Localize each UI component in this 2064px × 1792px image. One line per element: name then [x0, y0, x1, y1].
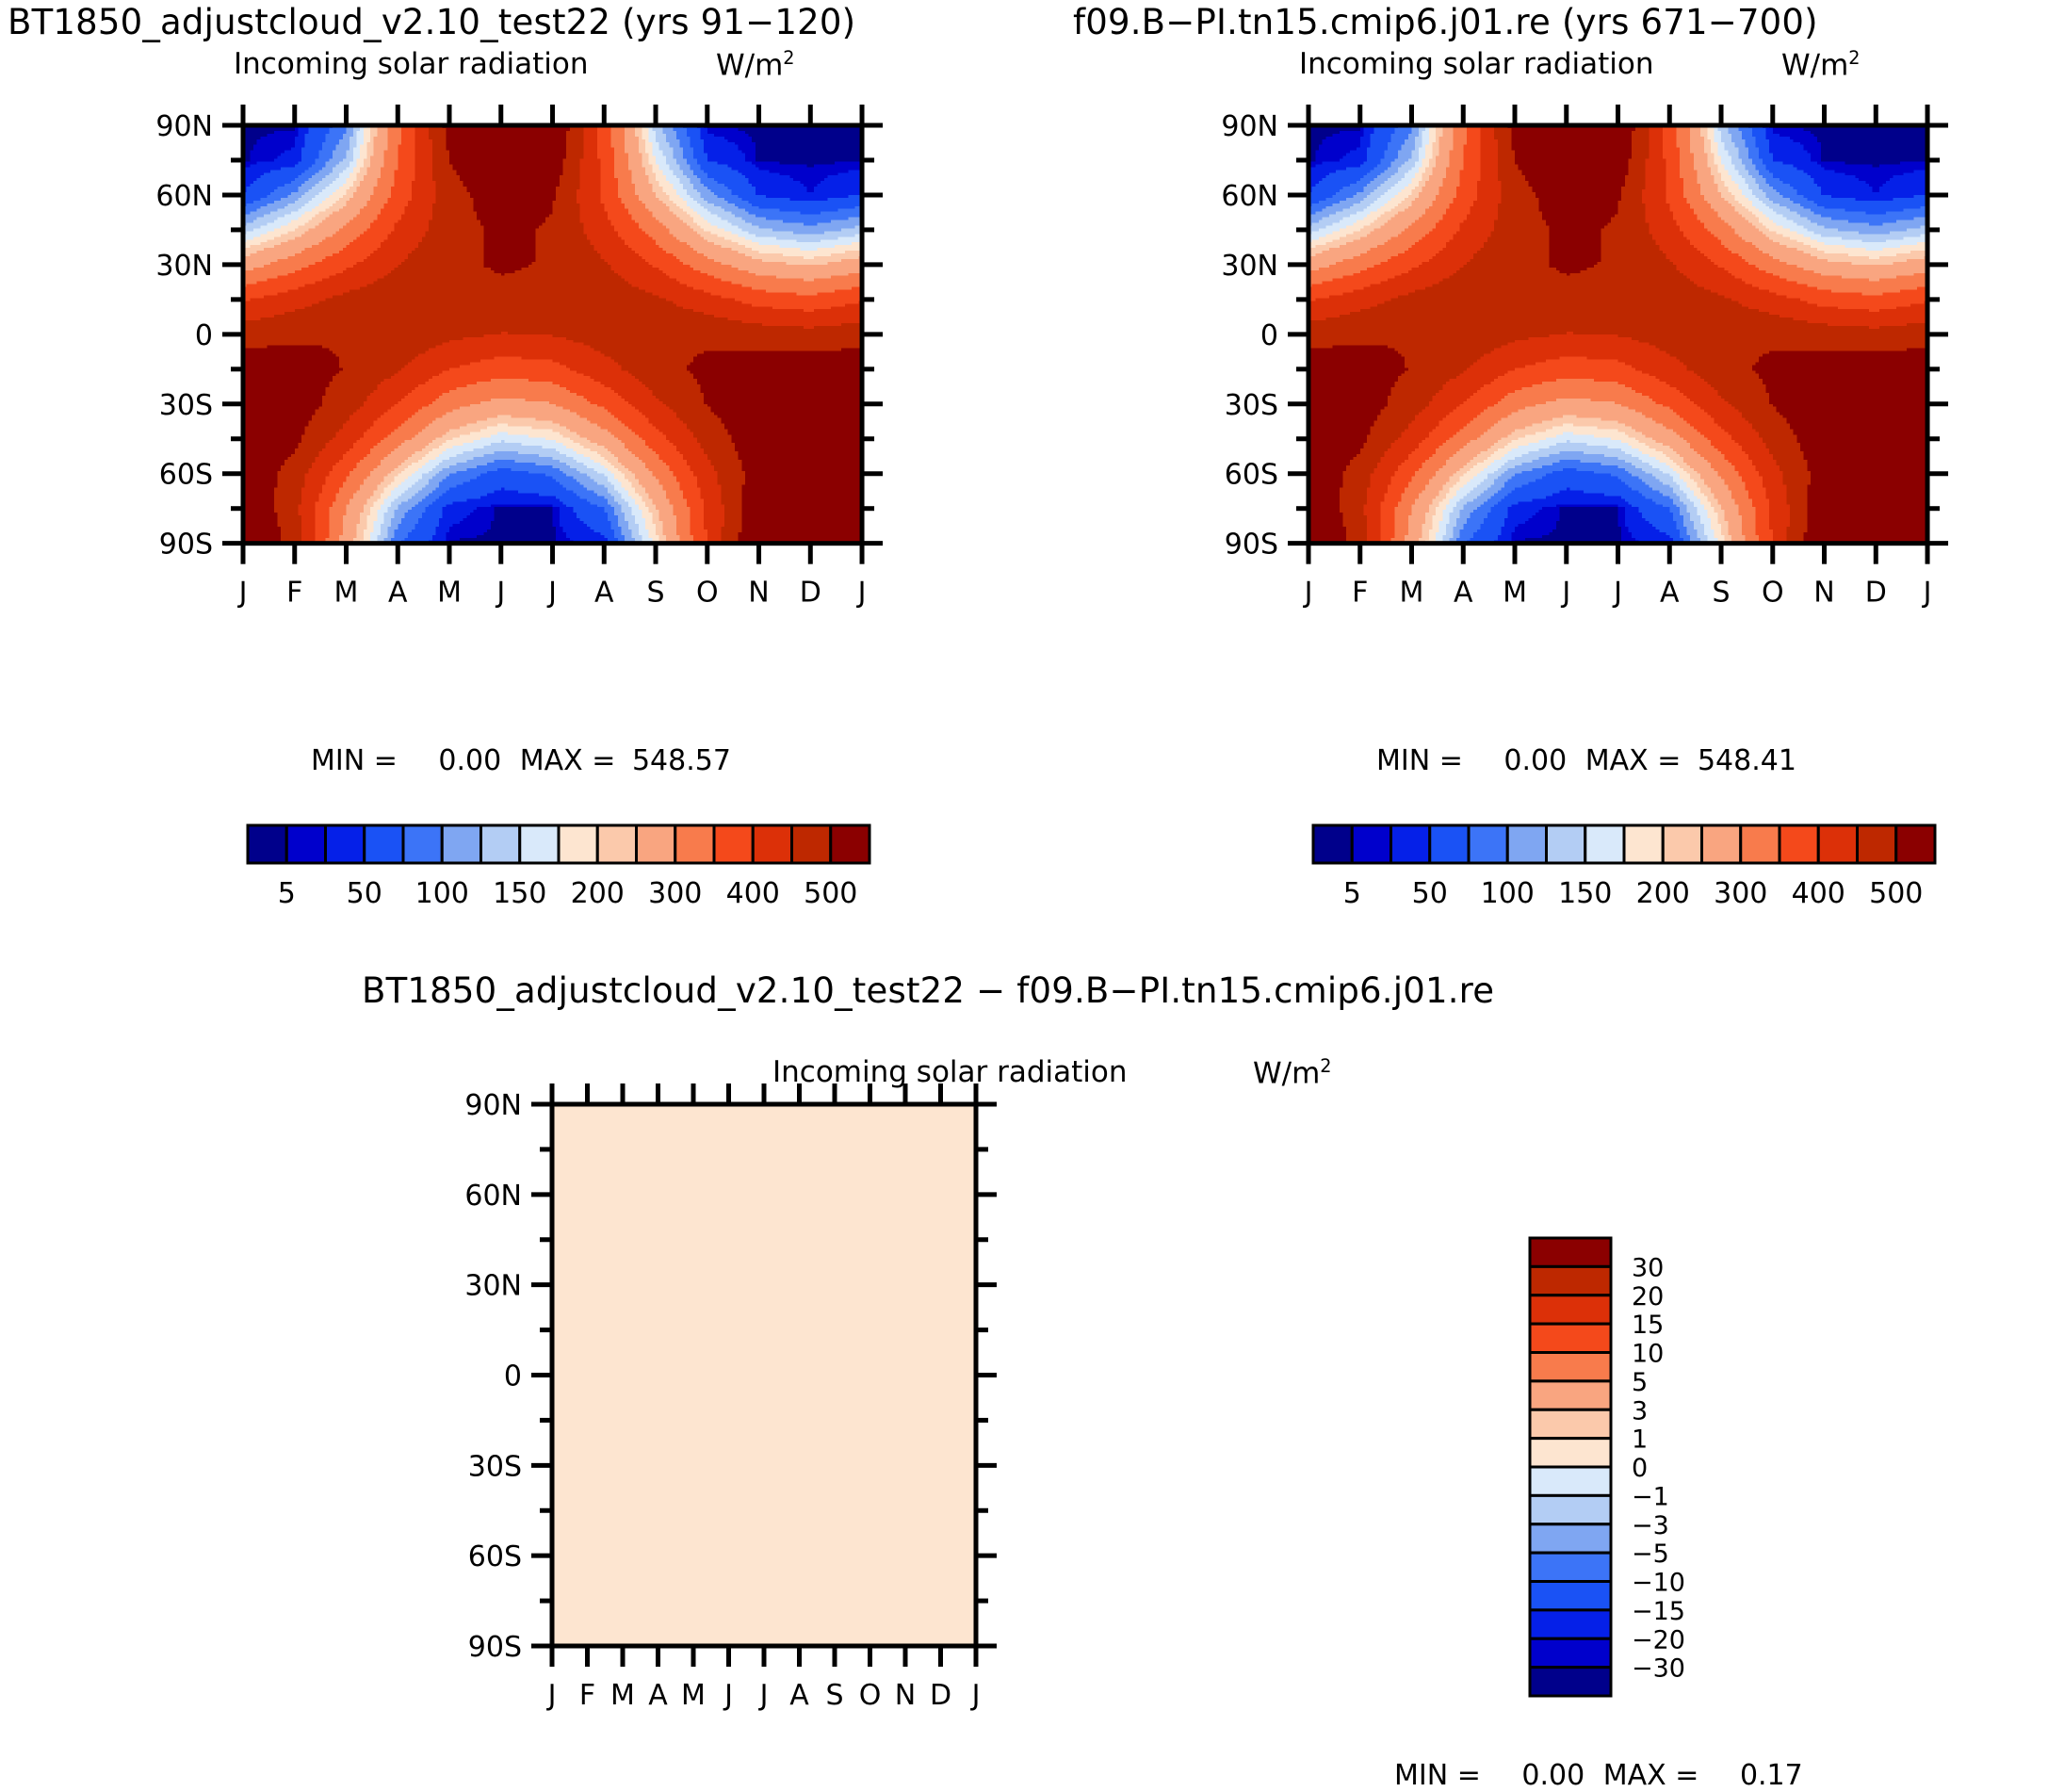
colorbar-cell[interactable] — [675, 825, 714, 863]
colorbar-cell[interactable] — [1530, 1439, 1611, 1467]
colorbar-cell[interactable] — [1858, 825, 1896, 863]
x-axis-tick-label: A — [388, 577, 408, 610]
x-axis-tick-label: O — [696, 577, 719, 610]
y-axis-tick-label: 30S — [1225, 389, 1278, 422]
colorbar-tick-label: 5 — [278, 877, 296, 910]
colorbar-cell[interactable] — [1663, 825, 1701, 863]
y-axis-tick-label: 30N — [464, 1270, 522, 1303]
y-axis-tick-label: 30S — [159, 389, 213, 422]
x-axis-tick-label: M — [334, 577, 359, 610]
colorbar-cell[interactable] — [1469, 825, 1507, 863]
units-exponent: 2 — [1320, 1055, 1331, 1077]
colorbar-cells[interactable] — [1313, 825, 1935, 863]
x-axis-tick-label: D — [800, 577, 821, 610]
colorbar-tick-label: 200 — [571, 877, 625, 910]
contour-field — [552, 1104, 976, 1646]
colorbar-cell[interactable] — [1530, 1381, 1611, 1409]
colorbar-tick-label: 5 — [1343, 877, 1361, 910]
y-axis-tick-label: 30N — [155, 250, 213, 283]
x-axis-tick-label: J — [1303, 577, 1313, 610]
y-axis-tick-label: 30S — [468, 1450, 522, 1483]
colorbar-diff-tick-label: −1 — [1632, 1482, 1669, 1511]
colorbar-cell[interactable] — [1530, 1610, 1611, 1638]
x-axis-tick-label: M — [1503, 577, 1527, 610]
x-axis-tick-label: S — [825, 1679, 843, 1712]
colorbar-cell[interactable] — [1896, 825, 1935, 863]
colorbar-cell[interactable] — [1530, 1582, 1611, 1610]
minmax-difference: MIN = 0.00 MAX = 0.17 — [1394, 1759, 1803, 1792]
x-axis-tick-label: A — [789, 1679, 809, 1712]
colorbar-cell[interactable] — [559, 825, 597, 863]
x-axis-tick-label: J — [970, 1679, 981, 1712]
colorbar-cell[interactable] — [1585, 825, 1624, 863]
y-axis-tick-label: 30N — [1221, 250, 1278, 283]
x-axis-tick-label: D — [1865, 577, 1887, 610]
colorbar-cell[interactable] — [1507, 825, 1546, 863]
panel-top-right: f09.B−PI.tn15.cmip6.j01.re (yrs 671−700)… — [1065, 0, 2064, 923]
units-exponent: 2 — [783, 47, 794, 69]
x-axis-tick-label: D — [930, 1679, 951, 1712]
colorbar-cell[interactable] — [403, 825, 442, 863]
contour-plot-right: 90N60N30N030S60S90SJFMAMJJASONDJ — [1065, 72, 2064, 731]
x-axis-tick-label: S — [647, 577, 665, 610]
x-axis-tick-label: J — [856, 577, 867, 610]
y-axis-tick-label: 60N — [1221, 180, 1278, 213]
colorbar-tick-label: 50 — [1412, 877, 1448, 910]
colorbar-cell[interactable] — [637, 825, 675, 863]
colorbar-tick-label: 100 — [415, 877, 469, 910]
colorbar-cell[interactable] — [248, 825, 286, 863]
colorbar-cell[interactable] — [1702, 825, 1741, 863]
panel-difference: BT1850_adjustcloud_v2.10_test22 − f09.B−… — [0, 961, 2064, 1738]
difference-plot: 90N60N30N030S60S90SJFMAMJJASONDJ — [414, 1080, 1545, 1739]
colorbar-cell[interactable] — [1530, 1266, 1611, 1295]
min-value: 0.00 — [1521, 1759, 1585, 1792]
colorbar-cell[interactable] — [442, 825, 480, 863]
y-axis-tick-label: 90S — [468, 1631, 522, 1664]
colorbar-cell[interactable] — [1780, 825, 1818, 863]
max-label: MAX = — [1585, 744, 1682, 777]
x-axis-tick-label: J — [1922, 577, 1932, 610]
contour-plot-left: 90N60N30N030S60S90SJFMAMJJASONDJ — [0, 72, 999, 731]
colorbar-cell[interactable] — [286, 825, 325, 863]
y-axis-tick-label: 60S — [468, 1540, 522, 1573]
colorbar-cell[interactable] — [1530, 1524, 1611, 1553]
colorbar-cell[interactable] — [1430, 825, 1469, 863]
colorbar-tick-label: 150 — [493, 877, 546, 910]
y-axis-tick-label: 90N — [464, 1089, 522, 1122]
colorbar-diff-tick-label: 5 — [1632, 1368, 1648, 1397]
colorbar-tick-label: 500 — [1869, 877, 1923, 910]
x-axis-tick-label: F — [1352, 577, 1368, 610]
colorbar-diff-tick-label: −10 — [1632, 1569, 1685, 1598]
colorbar-cell[interactable] — [1530, 1467, 1611, 1495]
colorbar-diff-tick-label: 10 — [1632, 1340, 1664, 1369]
colorbar-cell[interactable] — [1530, 1495, 1611, 1523]
units-exponent: 2 — [1848, 47, 1860, 69]
y-axis-tick-label: 60N — [464, 1180, 522, 1213]
x-axis-tick-label: O — [1762, 577, 1784, 610]
x-axis-tick-label: A — [594, 577, 614, 610]
colorbar-cell[interactable] — [1530, 1295, 1611, 1324]
colorbar-cell[interactable] — [365, 825, 403, 863]
min-value: 0.00 — [438, 744, 501, 777]
colorbar-cell[interactable] — [520, 825, 559, 863]
x-axis-tick-label: A — [648, 1679, 668, 1712]
colorbar-cell[interactable] — [1741, 825, 1780, 863]
colorbar-tick-label: 50 — [347, 877, 382, 910]
colorbar-cell[interactable] — [714, 825, 753, 863]
panel-title-left: BT1850_adjustcloud_v2.10_test22 (yrs 91−… — [8, 2, 855, 42]
colorbar-diff-tick-label: −3 — [1632, 1511, 1669, 1540]
colorbar-diff-tick-label: 0 — [1632, 1454, 1648, 1483]
y-axis-tick-label: 60N — [155, 180, 213, 213]
colorbar-cell[interactable] — [326, 825, 365, 863]
x-axis-tick-label: O — [859, 1679, 882, 1712]
colorbar-diff-tick-label: 20 — [1632, 1282, 1664, 1311]
x-axis-tick-label: J — [495, 577, 505, 610]
minmax-right: MIN = 0.00 MAX = 548.41 — [1376, 744, 1796, 777]
colorbar-left[interactable]: 550100150200300400500 — [231, 816, 890, 920]
colorbar-cell[interactable] — [1818, 825, 1857, 863]
colorbar-cell[interactable] — [1530, 1638, 1611, 1667]
colorbar-cell[interactable] — [753, 825, 791, 863]
x-axis-tick-label: N — [895, 1679, 916, 1712]
x-axis-tick-label: S — [1713, 577, 1731, 610]
x-axis-tick-label: J — [237, 577, 248, 610]
y-axis-tick-label: 90N — [1221, 110, 1278, 143]
x-axis-tick-label: N — [748, 577, 769, 610]
x-axis-tick-label: M — [681, 1679, 706, 1712]
x-axis-tick-label: M — [437, 577, 462, 610]
colorbar-diff-tick-label: 3 — [1632, 1396, 1648, 1425]
colorbar-right[interactable]: 550100150200300400500 — [1296, 816, 1956, 920]
colorbar-tick-label: 100 — [1481, 877, 1535, 910]
x-axis-tick-label: J — [1612, 577, 1622, 610]
colorbar-cell[interactable] — [1530, 1668, 1611, 1696]
colorbar-cell[interactable] — [1530, 1353, 1611, 1381]
colorbar-cell[interactable] — [792, 825, 831, 863]
colorbar-cell[interactable] — [1547, 825, 1585, 863]
max-value: 0.17 — [1740, 1759, 1803, 1792]
x-axis-tick-label: J — [723, 1679, 733, 1712]
panel-title-right: f09.B−PI.tn15.cmip6.j01.re (yrs 671−700) — [1073, 2, 1818, 42]
colorbar-cell[interactable] — [1391, 825, 1430, 863]
colorbar-tick-label: 300 — [1714, 877, 1767, 910]
colorbar-tick-label: 200 — [1636, 877, 1690, 910]
colorbar-tick-label: 400 — [1792, 877, 1845, 910]
max-value: 548.57 — [632, 744, 731, 777]
contour-field — [1308, 125, 1928, 544]
colorbar-cell[interactable] — [1352, 825, 1390, 863]
colorbar-diff-tick-label: −20 — [1632, 1625, 1685, 1654]
x-axis-tick-label: A — [1660, 577, 1680, 610]
y-axis-tick-label: 90S — [1225, 529, 1278, 562]
difference-title: BT1850_adjustcloud_v2.10_test22 − f09.B−… — [362, 970, 1494, 1011]
min-label: MIN = — [1376, 744, 1463, 777]
y-axis-tick-label: 0 — [1260, 319, 1278, 352]
colorbar-diff-tick-label: −30 — [1632, 1654, 1685, 1684]
x-axis-tick-label: M — [1400, 577, 1424, 610]
colorbar-tick-label: 400 — [726, 877, 780, 910]
x-axis-tick-label: N — [1813, 577, 1834, 610]
colorbar-diff-tick-label: 15 — [1632, 1311, 1664, 1340]
min-label: MIN = — [311, 744, 398, 777]
contour-field — [243, 125, 863, 544]
x-axis-tick-label: F — [286, 577, 302, 610]
y-axis-tick-label: 90N — [155, 110, 213, 143]
colorbar-tick-label: 150 — [1558, 877, 1612, 910]
x-axis-tick-label: M — [610, 1679, 635, 1712]
colorbar-cell[interactable] — [1530, 1409, 1611, 1438]
min-label: MIN = — [1394, 1759, 1481, 1792]
colorbar-cell[interactable] — [1530, 1324, 1611, 1352]
y-axis-tick-label: 0 — [195, 319, 213, 352]
colorbar-cells[interactable] — [248, 825, 869, 863]
max-label: MAX = — [1603, 1759, 1699, 1792]
colorbar-diff-cells[interactable] — [1530, 1238, 1611, 1696]
colorbar-difference[interactable]: 302015105310−1−3−5−10−15−20−30 — [1526, 1232, 1846, 1722]
colorbar-cell[interactable] — [1530, 1238, 1611, 1266]
colorbar-diff-tick-label: 1 — [1632, 1425, 1648, 1455]
min-value: 0.00 — [1503, 744, 1567, 777]
y-axis-tick-label: 60S — [159, 459, 213, 492]
x-axis-tick-label: J — [546, 1679, 557, 1712]
x-axis-tick-label: A — [1454, 577, 1473, 610]
y-axis-tick-label: 60S — [1225, 459, 1278, 492]
colorbar-diff-tick-label: 30 — [1632, 1253, 1664, 1282]
max-label: MAX = — [520, 744, 616, 777]
max-value: 548.41 — [1698, 744, 1796, 777]
y-axis-tick-label: 90S — [159, 529, 213, 562]
x-axis-tick-label: J — [1560, 577, 1570, 610]
x-axis-tick-label: F — [579, 1679, 595, 1712]
panel-top-left: BT1850_adjustcloud_v2.10_test22 (yrs 91−… — [0, 0, 999, 923]
y-axis-tick-label: 0 — [504, 1360, 522, 1393]
colorbar-cell[interactable] — [481, 825, 520, 863]
colorbar-cell[interactable] — [1530, 1553, 1611, 1581]
colorbar-diff-tick-label: −15 — [1632, 1597, 1685, 1626]
colorbar-cell[interactable] — [1313, 825, 1352, 863]
colorbar-tick-label: 500 — [804, 877, 857, 910]
colorbar-cell[interactable] — [831, 825, 869, 863]
x-axis-tick-label: J — [758, 1679, 769, 1712]
colorbar-cell[interactable] — [1624, 825, 1663, 863]
colorbar-cell[interactable] — [597, 825, 636, 863]
minmax-left: MIN = 0.00 MAX = 548.57 — [311, 744, 731, 777]
colorbar-diff-tick-label: −5 — [1632, 1539, 1669, 1569]
colorbar-tick-label: 300 — [648, 877, 702, 910]
x-axis-tick-label: J — [546, 577, 557, 610]
